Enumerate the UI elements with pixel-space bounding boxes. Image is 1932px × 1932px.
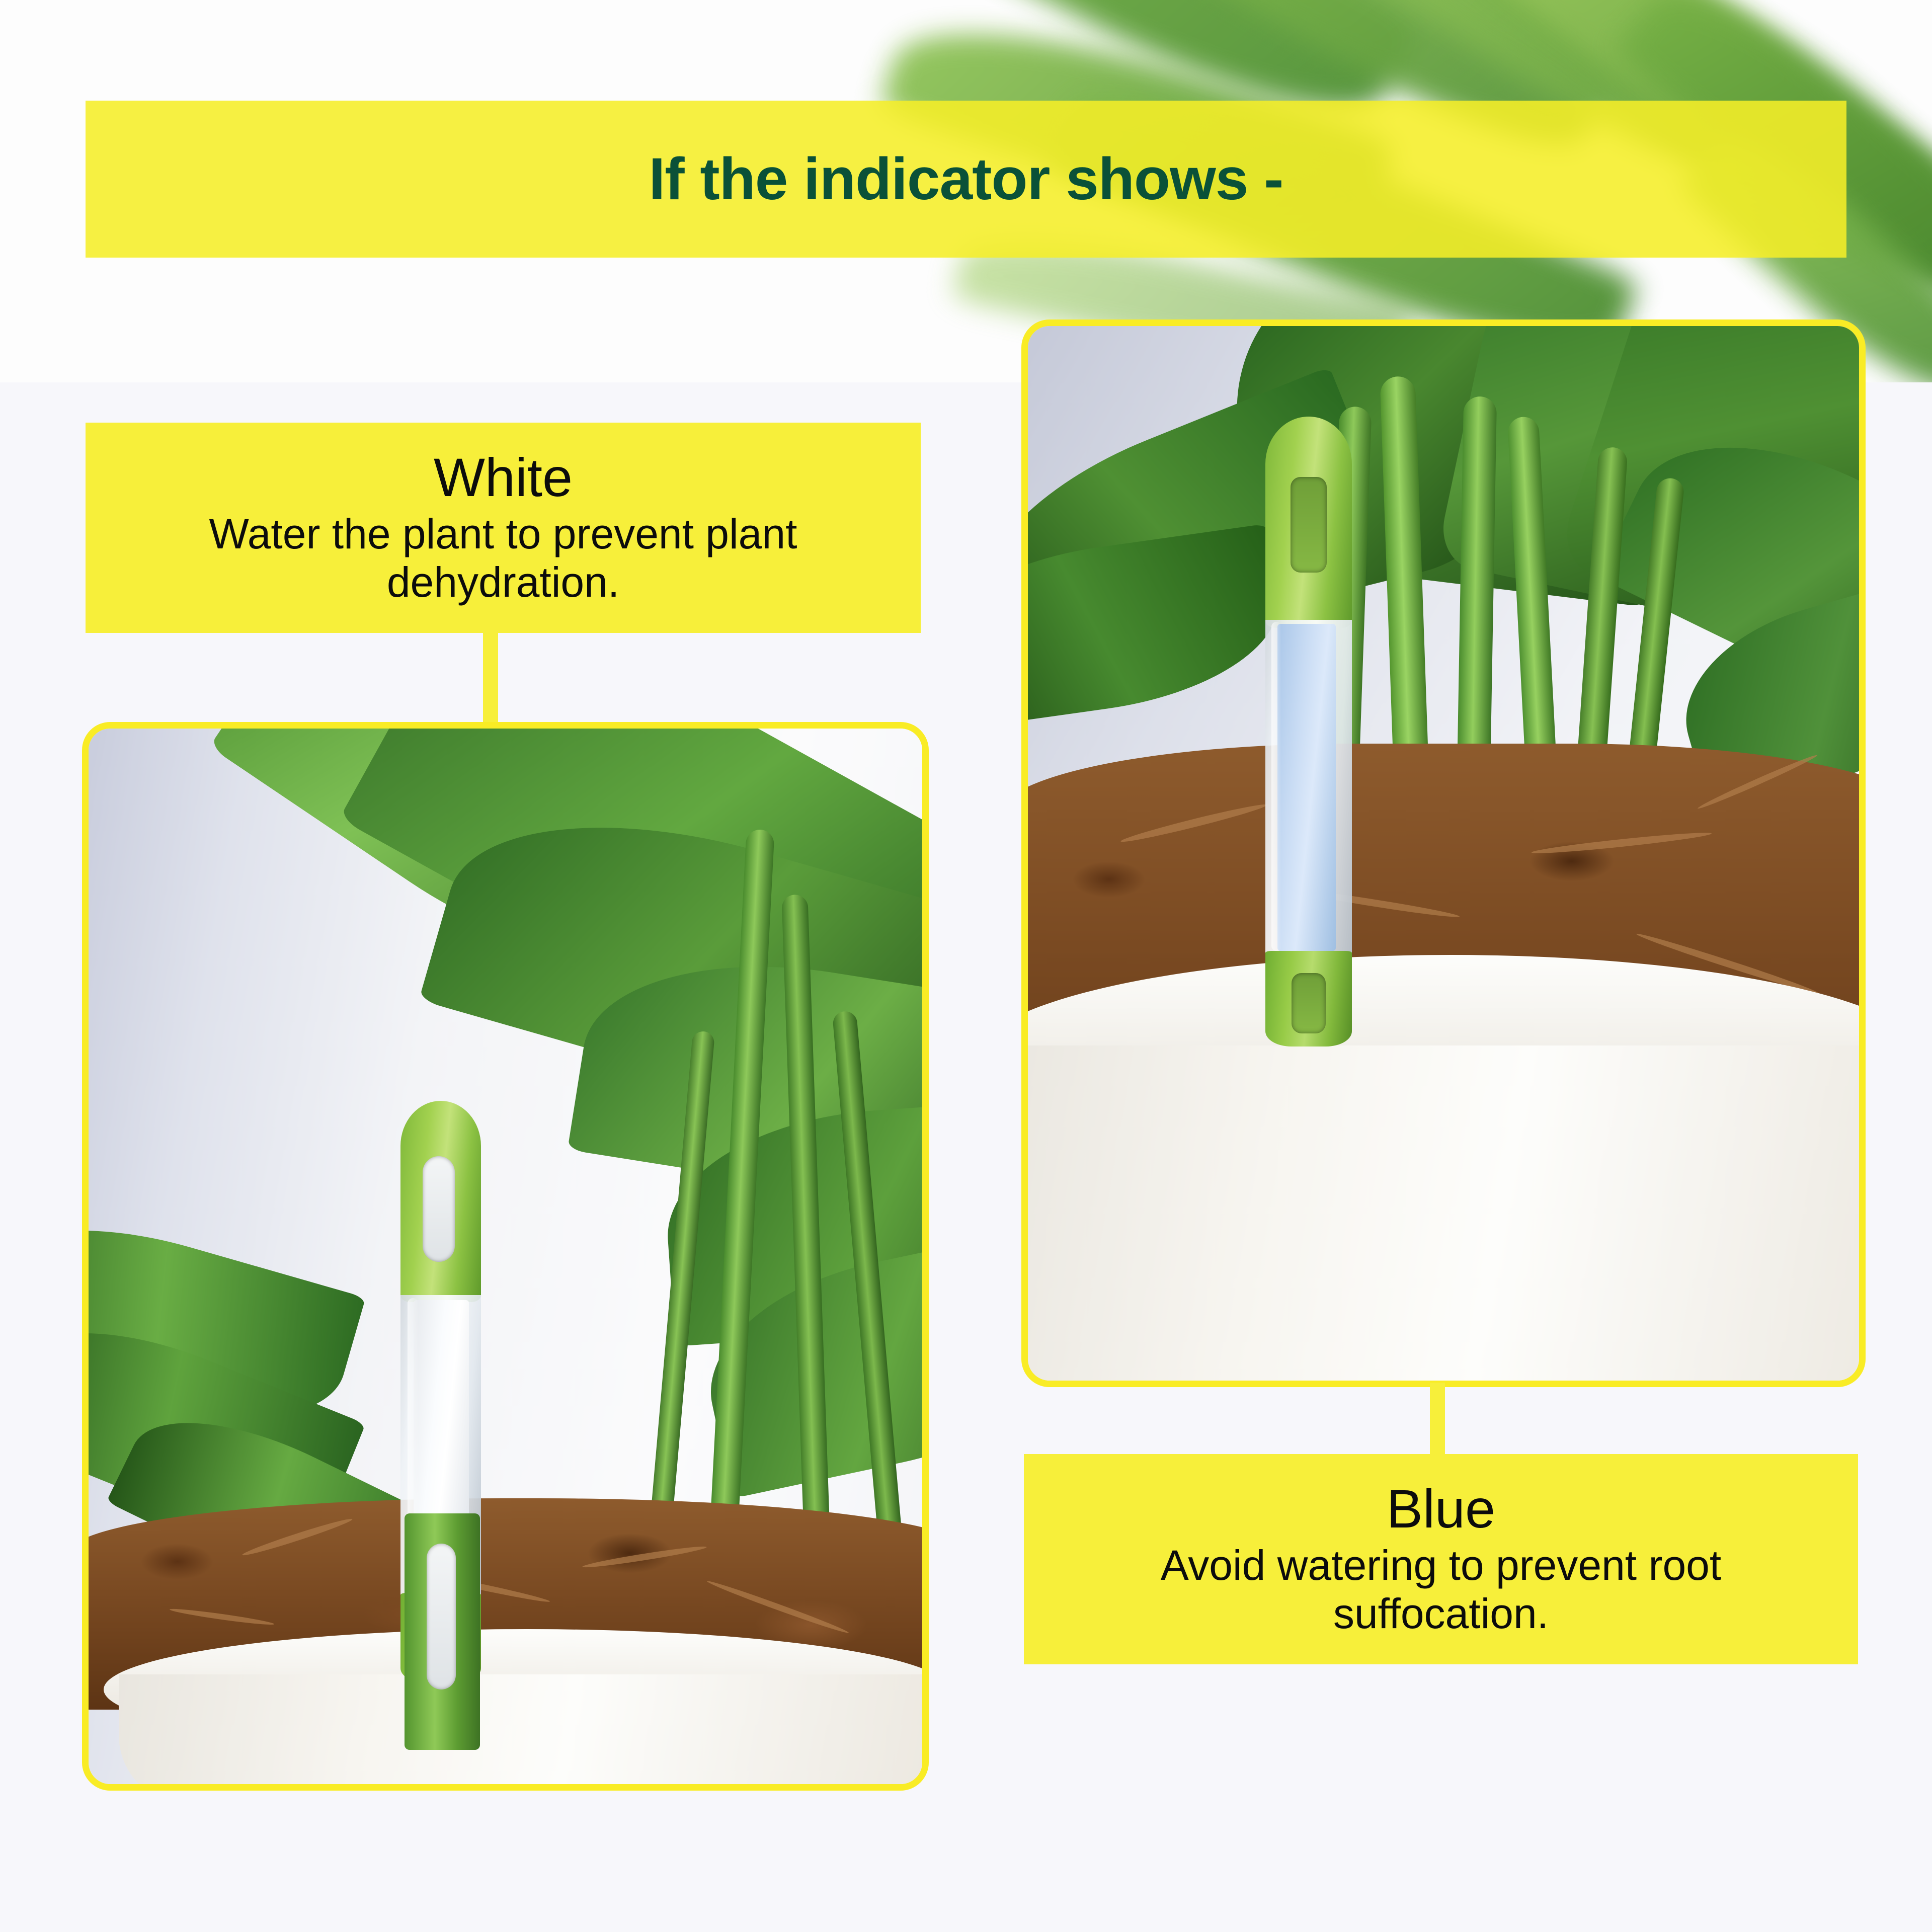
meter-top-window — [423, 1156, 455, 1262]
caption-body-white: Water the plant to prevent plant dehydra… — [121, 510, 886, 607]
photo-frame-white — [82, 722, 929, 1791]
photo-scene-white — [89, 729, 922, 1784]
header-banner: If the indicator shows - — [86, 101, 1846, 258]
caption-heading-white: White — [434, 449, 573, 506]
meter-highlight — [1271, 622, 1281, 951]
caption-heading-blue: Blue — [1387, 1480, 1495, 1538]
infographic-canvas: If the indicator shows - White Water the… — [0, 0, 1932, 1932]
connector-line-blue — [1430, 1383, 1445, 1458]
caption-card-blue: Blue Avoid watering to prevent root suff… — [1024, 1454, 1858, 1664]
meter-probe-window — [427, 1544, 456, 1689]
photo-scene-blue — [1028, 326, 1859, 1381]
meter-indicator-strip — [1277, 624, 1336, 951]
photo-frame-blue — [1021, 319, 1866, 1387]
meter-bottom-window — [1292, 973, 1326, 1033]
caption-body-blue: Avoid watering to prevent root suffocati… — [1059, 1542, 1823, 1638]
meter-top-window — [1291, 477, 1327, 573]
moisture-meter-blue — [1265, 417, 1352, 1030]
connector-line-white — [483, 627, 498, 728]
plant-pot — [119, 1674, 922, 1784]
page-title: If the indicator shows - — [649, 149, 1283, 209]
plant-pot — [1028, 1045, 1859, 1381]
caption-card-white: White Water the plant to prevent plant d… — [86, 423, 921, 633]
